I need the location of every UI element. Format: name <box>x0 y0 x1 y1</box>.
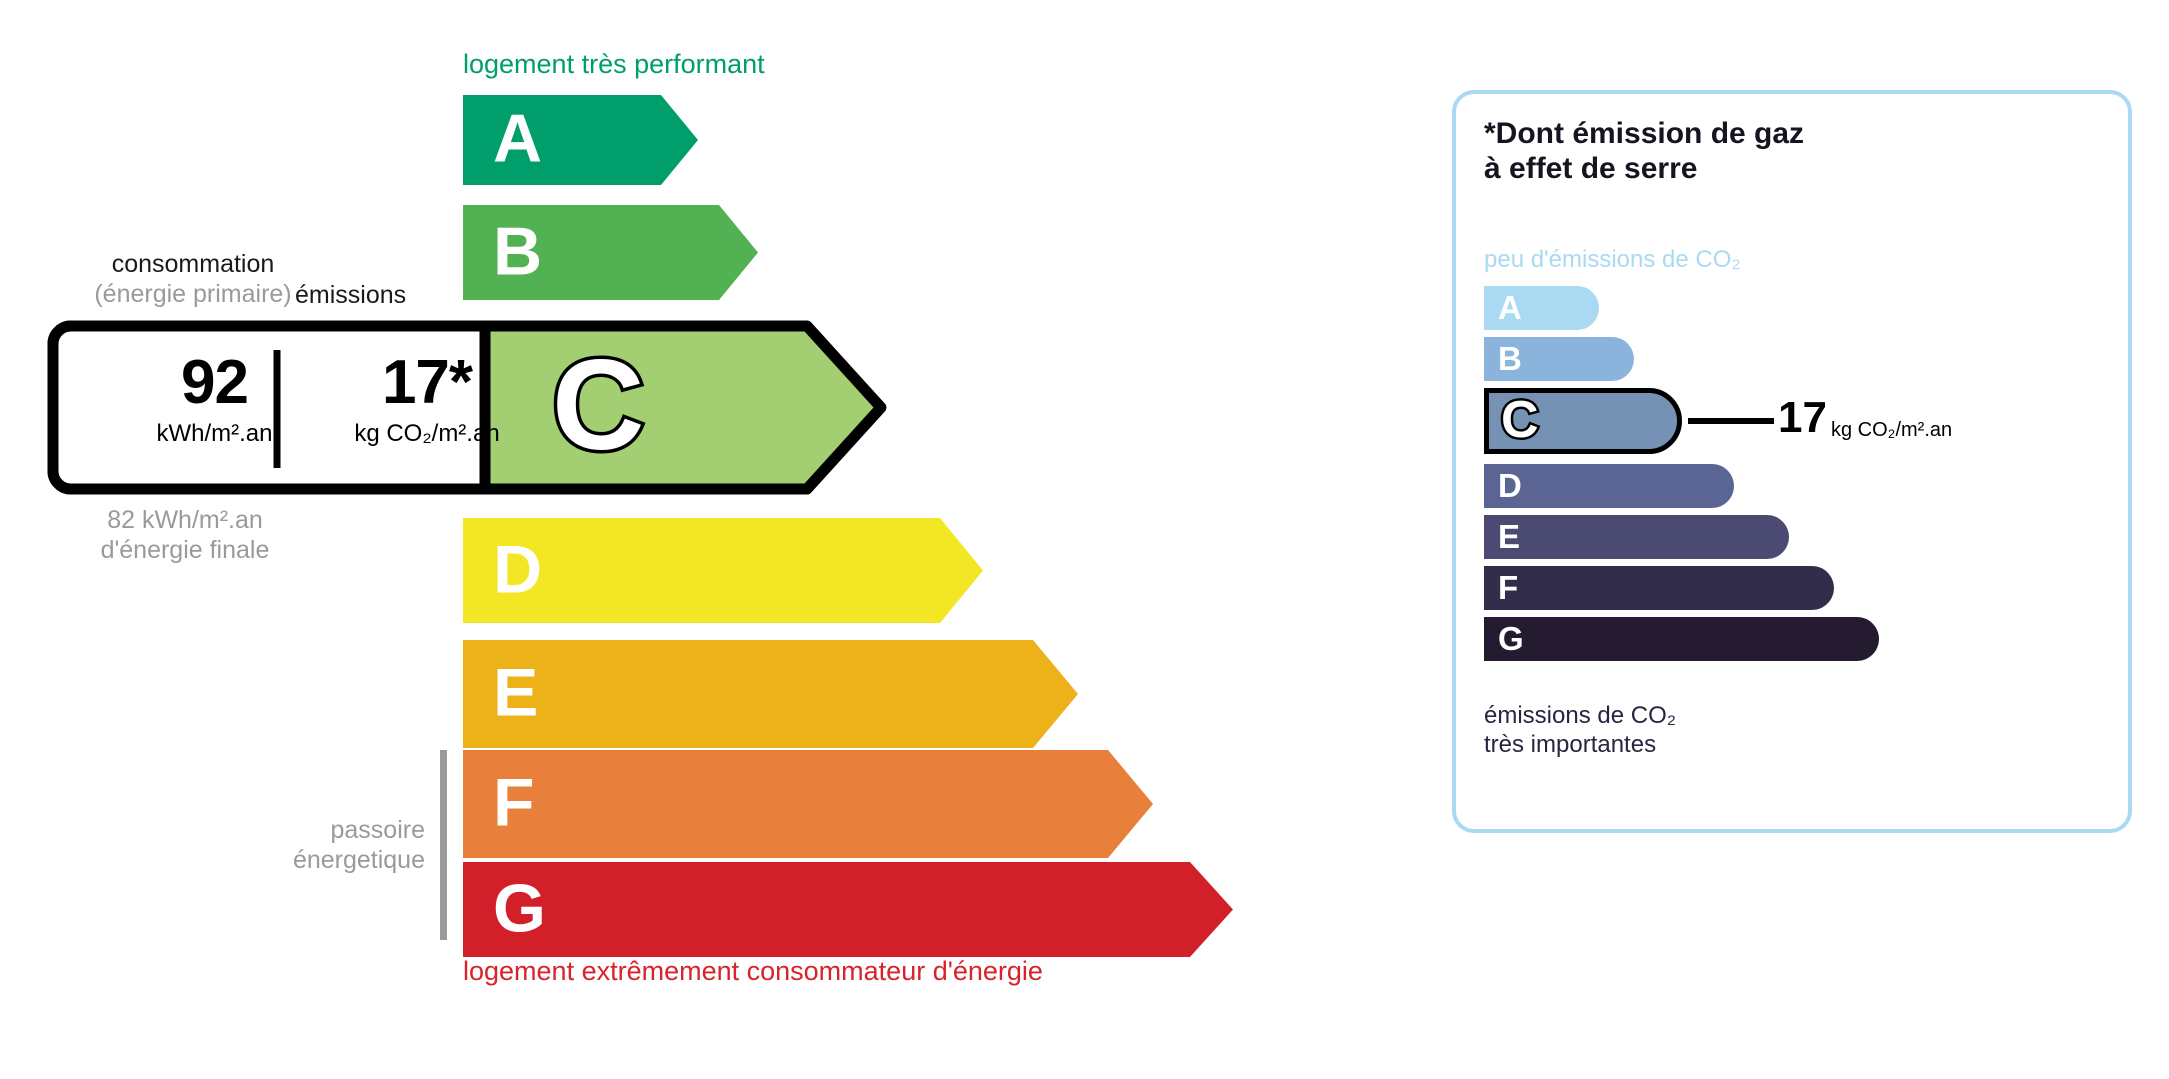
arrow-shape-e <box>463 640 1078 748</box>
consumption-value-block: 92 kWh/m².an <box>107 352 322 448</box>
dpe-diagram: logement très performant consommation (é… <box>0 0 2169 1079</box>
energy-grade-arrow-d[interactable]: D <box>463 518 983 623</box>
final-energy-line2: d'énergie finale <box>60 535 310 565</box>
emissions-unit: kg CO₂/m².an <box>332 420 522 448</box>
co2-grade-letter-g: G <box>1498 622 1524 655</box>
co2-grade-bar-c[interactable]: C <box>1484 388 1682 454</box>
co2-top-caption: peu d'émissions de CO₂ <box>1484 246 1741 274</box>
co2-grade-bar-f[interactable]: F <box>1484 566 1834 610</box>
co2-grade-bar-g[interactable]: G <box>1484 617 1879 661</box>
energy-top-caption: logement très performant <box>463 49 765 80</box>
co2-grade-bar-e[interactable]: E <box>1484 515 1789 559</box>
co2-unit: kg CO₂/m².an <box>1831 419 1952 442</box>
energy-grade-letter-d: D <box>493 535 542 603</box>
co2-title-line2: à effet de serre <box>1484 151 1804 186</box>
final-energy-note: 82 kWh/m².an d'énergie finale <box>60 505 310 565</box>
consumption-header-line1: consommation <box>68 250 318 280</box>
final-energy-line1: 82 kWh/m².an <box>60 505 310 535</box>
energy-grade-arrow-b[interactable]: B <box>463 205 758 300</box>
passoire-label-line2: énergetique <box>200 845 425 875</box>
passoire-label-line1: passoire <box>200 815 425 845</box>
arrow-shape-f <box>463 750 1153 858</box>
consumption-value: 92 <box>107 352 322 414</box>
consumption-header-line2: (énergie primaire) <box>68 280 318 310</box>
co2-grade-letter-f: F <box>1498 571 1518 604</box>
co2-bottom-caption-line1: émissions de CO₂ <box>1484 702 1676 731</box>
co2-bottom-caption: émissions de CO₂ très importantes <box>1484 702 1676 760</box>
energy-grade-letter-a: A <box>493 105 542 173</box>
energy-bottom-caption: logement extrêmement consommateur d'éner… <box>463 956 1043 987</box>
co2-title-line1: *Dont émission de gaz <box>1484 116 1804 151</box>
co2-grade-bar-b[interactable]: B <box>1484 337 1634 381</box>
energy-grade-letter-e: E <box>493 659 538 727</box>
arrow-shape-g <box>463 862 1233 957</box>
emissions-header: émissions <box>295 281 406 311</box>
passoire-indicator-bar <box>440 750 447 940</box>
co2-leader-line <box>1688 418 1774 424</box>
co2-grade-bar-d[interactable]: D <box>1484 464 1734 508</box>
energy-grade-arrow-g[interactable]: G <box>463 862 1233 957</box>
energy-grade-arrow-e[interactable]: E <box>463 640 1078 748</box>
emissions-value: 17* <box>332 352 522 414</box>
energy-grade-letter-c: C <box>552 342 644 470</box>
current-grade-row[interactable]: 92 kWh/m².an 17* kg CO₂/m².an C <box>47 320 887 495</box>
co2-grade-letter-a: A <box>1498 291 1522 324</box>
energy-performance-panel: logement très performant consommation (é… <box>0 0 1400 1079</box>
co2-grade-bar-a[interactable]: A <box>1484 286 1599 330</box>
consumption-header: consommation (énergie primaire) <box>68 250 318 309</box>
energy-grade-letter-g: G <box>493 874 546 942</box>
co2-grade-letter-e: E <box>1498 520 1520 553</box>
co2-bottom-caption-line2: très importantes <box>1484 731 1676 760</box>
emissions-value-block: 17* kg CO₂/m².an <box>332 352 522 448</box>
co2-panel-title: *Dont émission de gaz à effet de serre <box>1484 116 1804 187</box>
co2-grade-letter-b: B <box>1498 342 1522 375</box>
energy-grade-letter-b: B <box>493 217 542 285</box>
consumption-unit: kWh/m².an <box>107 420 322 448</box>
co2-grade-letter-c: C <box>1501 394 1539 446</box>
co2-emissions-panel: *Dont émission de gaz à effet de serre p… <box>1452 90 2132 833</box>
passoire-label: passoire énergetique <box>200 815 425 875</box>
co2-grade-letter-d: D <box>1498 469 1522 502</box>
energy-grade-letter-f: F <box>493 769 535 837</box>
co2-value: 17 <box>1778 396 1827 440</box>
energy-grade-arrow-f[interactable]: F <box>463 750 1153 858</box>
energy-grade-arrow-a[interactable]: A <box>463 95 698 185</box>
